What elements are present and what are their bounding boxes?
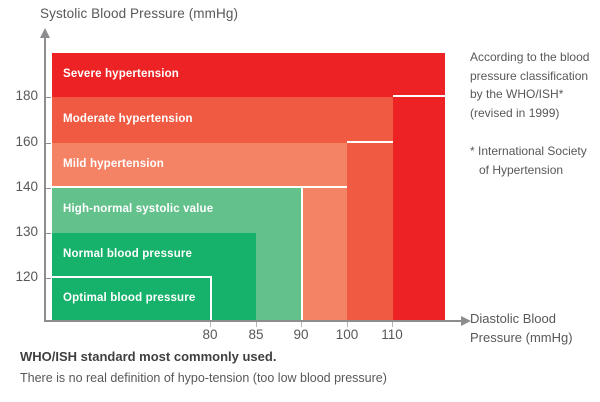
x-tick-label-80: 80: [190, 327, 230, 342]
band-label-mild-hypertension: Mild hypertension: [63, 158, 164, 170]
band-label-moderate-hypertension: Moderate hypertension: [63, 113, 193, 125]
x-tick-label-90: 90: [281, 327, 321, 342]
y-tick-label-140: 140: [8, 179, 38, 194]
y-tick-mark-140: [46, 188, 51, 189]
y-tick-mark-120: [46, 278, 51, 279]
x-axis-title-line2: Pressure (mmHg): [470, 330, 573, 345]
y-tick-mark-130: [46, 233, 51, 234]
y-tick-mark-160: [46, 143, 51, 144]
band-label-normal-blood-pressure: Normal blood pressure: [63, 248, 192, 260]
source-note-line3: by the WHO/ISH*: [470, 87, 563, 101]
y-tick-label-180: 180: [8, 88, 38, 103]
y-tick-label-160: 160: [8, 134, 38, 149]
separator-moderate-bottom: [347, 141, 393, 143]
x-axis-title: Diastolic Blood Pressure (mmHg): [470, 309, 595, 347]
separator-optimal-top: [52, 276, 212, 278]
band-label-high-normal: High-normal systolic value: [63, 203, 213, 215]
footnote-note: * International Society of Hypertension: [470, 142, 596, 179]
caption-main: WHO/ISH standard most commonly used.: [20, 349, 276, 364]
blood-pressure-classification-chart: Systolic Blood Pressure (mmHg): [0, 0, 600, 402]
y-tick-mark-180: [46, 97, 51, 98]
source-note-line4: (revised in 1999): [470, 106, 559, 120]
footnote-line2: of Hypertension: [470, 161, 596, 180]
footnote-line1: * International Society: [470, 144, 587, 158]
band-label-severe-hypertension: Severe hypertension: [63, 68, 179, 80]
x-axis-line: [44, 320, 462, 322]
y-axis-title: Systolic Blood Pressure (mmHg): [40, 6, 238, 21]
source-note: According to the blood pressure classifi…: [470, 48, 596, 122]
band-severe-step-lower: [393, 97, 445, 320]
caption-sub: There is no real definition of hypo-tens…: [20, 371, 387, 385]
x-tick-label-100: 100: [327, 327, 367, 342]
separator-high-normal-right: [301, 188, 303, 320]
separator-mild-bottom: [301, 186, 347, 188]
y-tick-label-120: 120: [8, 269, 38, 284]
x-tick-label-110: 110: [372, 327, 412, 342]
x-tick-label-85: 85: [236, 327, 276, 342]
plot-area: Severe hypertension Moderate hypertensio…: [52, 53, 445, 320]
separator-optimal-right: [210, 276, 212, 320]
band-moderate-step-lower: [347, 143, 393, 320]
band-label-optimal-blood-pressure: Optimal blood pressure: [63, 292, 195, 304]
x-axis-title-line1: Diastolic Blood: [470, 311, 556, 326]
y-tick-label-130: 130: [8, 224, 38, 239]
band-mild-step-lower: [301, 188, 347, 320]
source-note-line1: According to the blood: [470, 50, 589, 64]
source-note-line2: pressure classification: [470, 69, 588, 83]
separator-severe-bottom: [393, 95, 445, 97]
separator-mild-top-line: [52, 186, 301, 188]
